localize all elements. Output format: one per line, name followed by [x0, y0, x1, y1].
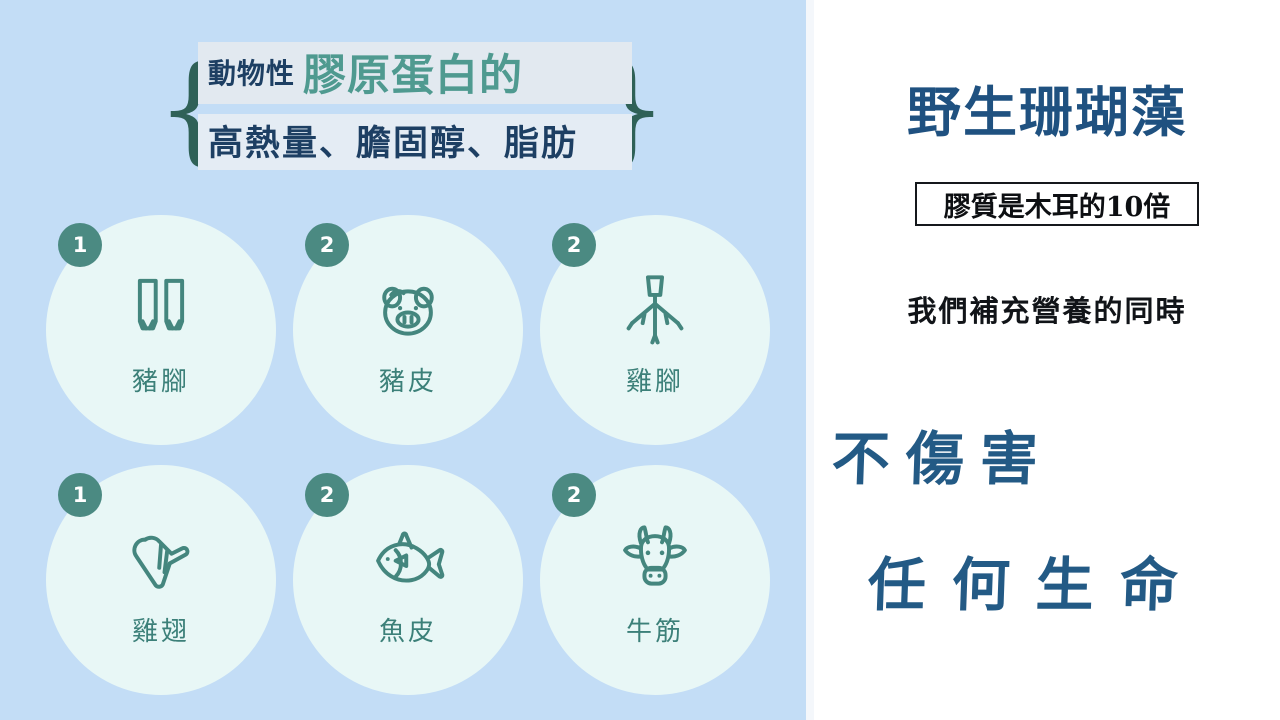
slide-canvas: { } 動物性 膠原蛋白的 高熱量、膽固醇、脂肪 1	[0, 0, 1280, 720]
item-badge: 1	[58, 473, 102, 517]
boxed-claim-text: 膠質是木耳的10倍	[944, 185, 1171, 224]
header-small-text: 動物性	[208, 52, 295, 92]
right-panel: 野生珊瑚藻 膠質是木耳的10倍 我們補充營養的同時 不傷害 任何生命	[814, 0, 1280, 720]
grid-item-fish-skin[interactable]: 2 魚皮	[293, 465, 523, 695]
pig-face-icon	[364, 263, 452, 355]
item-label: 豬皮	[379, 361, 437, 398]
grid-item-chicken-wing[interactable]: 1 雞翅	[46, 465, 276, 695]
item-badge: 2	[552, 223, 596, 267]
fish-icon	[364, 513, 452, 605]
header-row-primary: 動物性 膠原蛋白的	[198, 42, 632, 104]
left-panel: { } 動物性 膠原蛋白的 高熱量、膽固醇、脂肪 1	[0, 0, 806, 720]
handwritten-line-1: 不傷害	[831, 412, 1164, 496]
panel-divider	[806, 0, 814, 720]
handwritten-line-2: 任何生命	[867, 538, 1280, 622]
nutrition-statement: 我們補充營養的同時	[814, 288, 1280, 330]
header-secondary-text: 高熱量、膽固醇、脂肪	[208, 115, 578, 166]
grid-item-pig-trotter[interactable]: 1 豬腳	[46, 215, 276, 445]
collagen-source-grid: 1 豬腳 2	[28, 215, 788, 695]
header-row-secondary: 高熱量、膽固醇、脂肪	[198, 114, 632, 170]
pig-trotter-icon	[117, 263, 205, 355]
cow-head-icon	[611, 513, 699, 605]
page-title: 野生珊瑚藻	[814, 68, 1280, 147]
chicken-wing-icon	[117, 513, 205, 605]
header-rows: 動物性 膠原蛋白的 高熱量、膽固醇、脂肪	[198, 42, 632, 170]
grid-item-chicken-foot[interactable]: 2 雞腳	[540, 215, 770, 445]
item-label: 魚皮	[379, 611, 437, 648]
item-badge: 2	[305, 473, 349, 517]
item-badge: 2	[552, 473, 596, 517]
item-badge: 1	[58, 223, 102, 267]
item-label: 牛筋	[626, 611, 684, 648]
item-label: 雞翅	[132, 611, 190, 648]
chicken-foot-icon	[611, 263, 699, 355]
boxed-claim: 膠質是木耳的10倍	[915, 182, 1199, 226]
grid-item-pig-skin[interactable]: 2 豬皮	[293, 215, 523, 445]
item-label: 雞腳	[626, 361, 684, 398]
header-block: { } 動物性 膠原蛋白的 高熱量、膽固醇、脂肪	[150, 38, 670, 178]
grid-item-beef-tendon[interactable]: 2 牛筋	[540, 465, 770, 695]
header-big-text: 膠原蛋白的	[303, 41, 523, 103]
item-badge: 2	[305, 223, 349, 267]
item-label: 豬腳	[132, 361, 190, 398]
